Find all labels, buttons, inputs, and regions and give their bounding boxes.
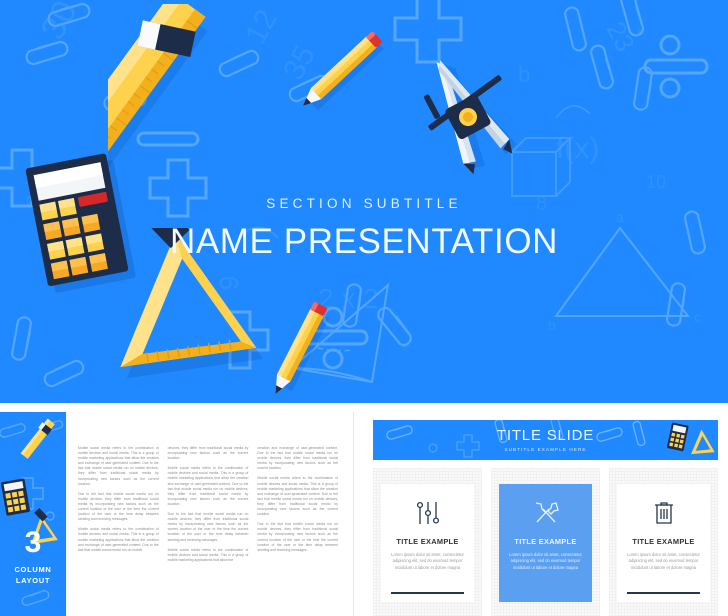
column-paragraph: Mobile social media refers to the combin… xyxy=(78,446,159,487)
feature-card-column: TITLE EXAMPLE Lorem ipsum dolor sit amet… xyxy=(373,468,482,616)
svg-text:+: + xyxy=(400,339,409,356)
column-paragraph: Mobile social media refers to the combin… xyxy=(78,527,159,552)
trash-icon xyxy=(625,498,702,528)
ruler-illustration xyxy=(108,4,278,164)
column-layout-label-line1: COLUMN xyxy=(14,565,51,574)
compass-divider-illustration xyxy=(386,42,546,172)
svg-text:b: b xyxy=(548,317,556,333)
title-slide-subheading: SUBTITLE EXAMPLE HERE xyxy=(373,447,718,452)
text-column-1: Mobile social media refers to the combin… xyxy=(78,446,159,606)
feature-card-highlighted[interactable]: TITLE EXAMPLE Lorem ipsum dolor sit amet… xyxy=(499,484,592,602)
column-paragraph: Mobile social media refers to the combin… xyxy=(257,476,338,517)
feature-card[interactable]: TITLE EXAMPLE Lorem ipsum dolor sit amet… xyxy=(617,484,710,602)
svg-text:×: × xyxy=(636,23,645,40)
column-paragraph: Due to the fact that mobile social media… xyxy=(78,492,159,523)
hero-slide: 30° 12 35 23 × f(x) 2 x 2 9 9 a c b b 8 … xyxy=(0,0,728,403)
column-paragraph: devices, they differ from traditional so… xyxy=(168,446,249,461)
svg-text:10: 10 xyxy=(646,172,666,192)
svg-text:23: 23 xyxy=(601,17,641,57)
column-paragraph: creation and exchange of user-generated … xyxy=(257,446,338,471)
thumbnail-divider xyxy=(353,412,363,616)
column-paragraph: Mobile social media refers to the combin… xyxy=(168,466,249,507)
tools-icon xyxy=(507,498,584,528)
thumbnail-title-slide[interactable]: TITLE SLIDE SUBTITLE EXAMPLE HERE xyxy=(363,412,728,616)
thumbnail-three-column-layout[interactable]: 3 COLUMN LAYOUT Mobile social media refe… xyxy=(0,412,352,616)
section-subtitle: SECTION SUBTITLE xyxy=(0,196,728,211)
feature-card-rule xyxy=(627,592,700,594)
thumbnail-columns: Mobile social media refers to the combin… xyxy=(66,412,352,616)
column-layout-label-line2: LAYOUT xyxy=(16,576,50,585)
title-slide-header: TITLE SLIDE SUBTITLE EXAMPLE HERE xyxy=(373,420,718,460)
feature-card-title: TITLE EXAMPLE xyxy=(625,537,702,546)
title-slide-heading: TITLE SLIDE xyxy=(373,427,718,444)
sliders-icon xyxy=(389,498,466,528)
svg-text:f(x): f(x) xyxy=(556,132,599,165)
presentation-title: NAME PRESENTATION xyxy=(0,222,728,262)
hero-text-block: SECTION SUBTITLE NAME PRESENTATION xyxy=(0,196,728,262)
feature-card-column: TITLE EXAMPLE Lorem ipsum dolor sit amet… xyxy=(491,468,600,616)
feature-card-body: Lorem ipsum dolor sit amet, consectetur … xyxy=(507,552,584,571)
feature-card-body: Lorem ipsum dolor sit amet, consectetur … xyxy=(389,552,466,571)
thumbnail-sidebar: 3 COLUMN LAYOUT xyxy=(0,412,66,616)
column-paragraph: Mobile social media refers to the combin… xyxy=(168,548,249,563)
svg-text:30°: 30° xyxy=(34,0,92,46)
feature-card-rule xyxy=(391,592,464,594)
svg-text:c: c xyxy=(694,309,701,325)
feature-card[interactable]: TITLE EXAMPLE Lorem ipsum dolor sit amet… xyxy=(381,484,474,602)
pencil-top-illustration xyxy=(290,16,400,116)
feature-card-body: Lorem ipsum dolor sit amet, consectetur … xyxy=(625,552,702,571)
pencil-bottom-illustration xyxy=(248,292,348,397)
text-column-2: devices, they differ from traditional so… xyxy=(168,446,249,606)
thumbnail-strip: 3 COLUMN LAYOUT Mobile social media refe… xyxy=(0,403,728,616)
feature-card-title: TITLE EXAMPLE xyxy=(389,537,466,546)
column-layout-label: COLUMN LAYOUT xyxy=(0,564,66,586)
column-paragraph: Due to the fact that mobile social media… xyxy=(257,522,338,553)
column-count-number: 3 xyxy=(0,528,66,558)
feature-card-title: TITLE EXAMPLE xyxy=(507,537,584,546)
feature-card-column: TITLE EXAMPLE Lorem ipsum dolor sit amet… xyxy=(609,468,718,616)
feature-cards: TITLE EXAMPLE Lorem ipsum dolor sit amet… xyxy=(373,468,718,616)
column-paragraph: Due to the fact that mobile social media… xyxy=(168,512,249,543)
text-column-3: creation and exchange of user-generated … xyxy=(257,446,338,606)
presentation-template-preview: 30° 12 35 23 × f(x) 2 x 2 9 9 a c b b 8 … xyxy=(0,0,728,616)
